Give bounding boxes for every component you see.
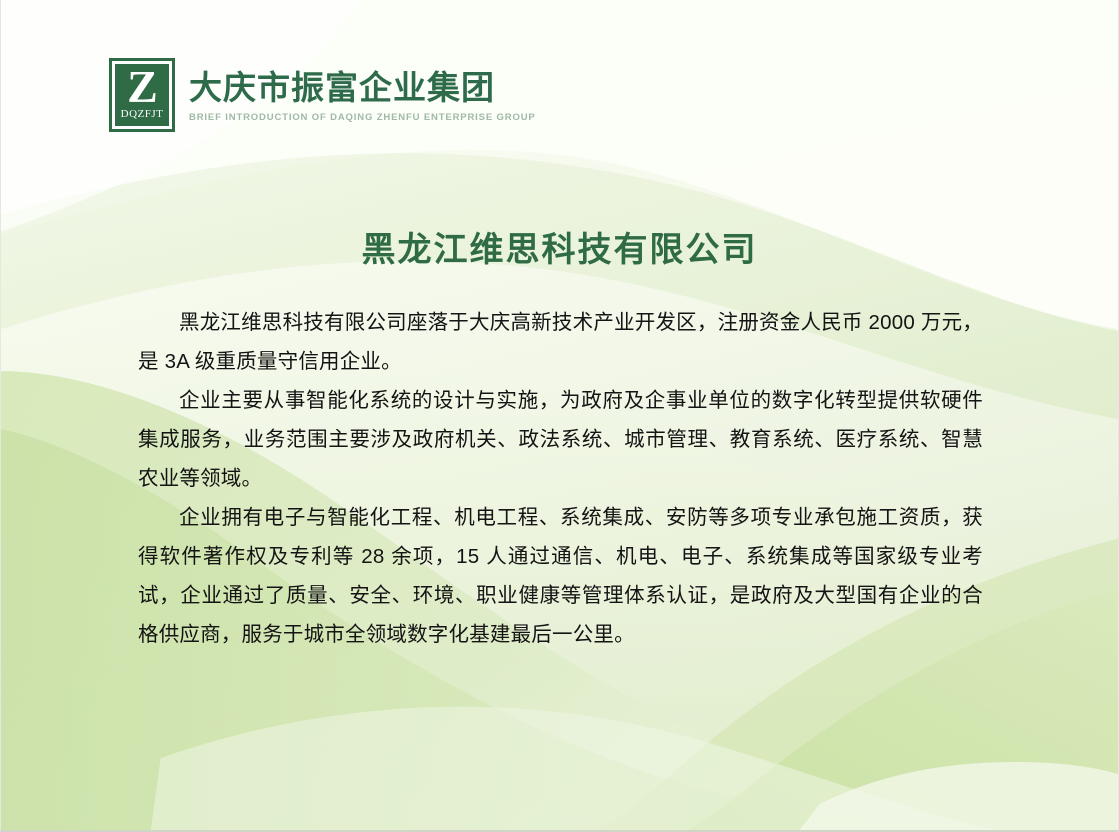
body-copy: 黑龙江维思科技有限公司座落于大庆高新技术产业开发区，注册资金人民币 2000 万…	[138, 303, 983, 654]
logo-letter-z: Z	[127, 66, 157, 108]
paragraph: 黑龙江维思科技有限公司座落于大庆高新技术产业开发区，注册资金人民币 2000 万…	[138, 303, 983, 381]
logo-company-name-en: BRIEF INTRODUCTION OF DAQING ZHENFU ENTE…	[189, 112, 536, 123]
logo-mark-icon: Z DQZFJT	[109, 58, 175, 132]
logo-mark-inner: Z DQZFJT	[115, 64, 169, 126]
page-title: 黑龙江维思科技有限公司	[1, 222, 1118, 271]
logo-text-block: 大庆市振富企业集团 BRIEF INTRODUCTION OF DAQING Z…	[189, 58, 536, 123]
slide-page: Z DQZFJT 大庆市振富企业集团 BRIEF INTRODUCTION OF…	[0, 0, 1119, 832]
logo-abbreviation: DQZFJT	[121, 109, 164, 120]
logo-company-name-cn: 大庆市振富企业集团	[189, 70, 536, 106]
brand-logo: Z DQZFJT 大庆市振富企业集团 BRIEF INTRODUCTION OF…	[109, 58, 536, 132]
paragraph: 企业拥有电子与智能化工程、机电工程、系统集成、安防等多项专业承包施工资质，获得软…	[138, 498, 983, 654]
paragraph: 企业主要从事智能化系统的设计与实施，为政府及企事业单位的数字化转型提供软硬件集成…	[138, 381, 983, 498]
